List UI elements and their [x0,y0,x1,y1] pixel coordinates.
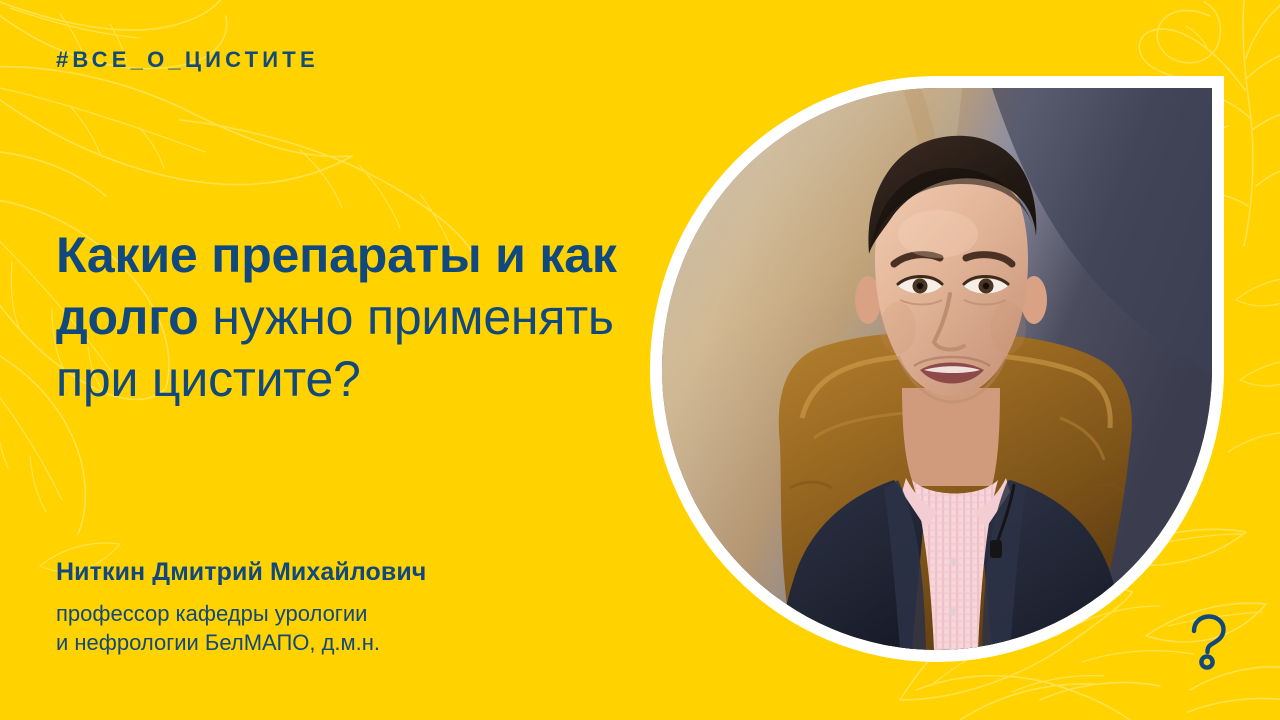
speaker-portrait-photo [662,88,1212,650]
leaf-pattern-icon-midright [1228,277,1280,452]
hashtag-label: #ВСЕ_О_ЦИСТИТЕ [56,47,319,73]
portrait-photo-clip [662,88,1212,650]
video-title-card: .ln { fill:none; stroke:#FFE24E; stroke-… [0,0,1280,720]
speaker-credit: Ниткин Дмитрий Михайлович профессор кафе… [56,556,636,657]
page-title: Какие препараты и как долго нужно примен… [56,224,626,410]
portrait-frame [650,76,1224,662]
speaker-role-line-2: и нефрологии БелМАПО, д.м.н. [56,628,636,657]
speaker-role: профессор кафедры урологии и нефрологии … [56,599,636,657]
speaker-role-line-1: профессор кафедры урологии [56,599,636,628]
speaker-name: Ниткин Дмитрий Михайлович [56,556,636,588]
question-mark-icon [1186,614,1230,670]
portrait-white-ring [650,76,1224,662]
